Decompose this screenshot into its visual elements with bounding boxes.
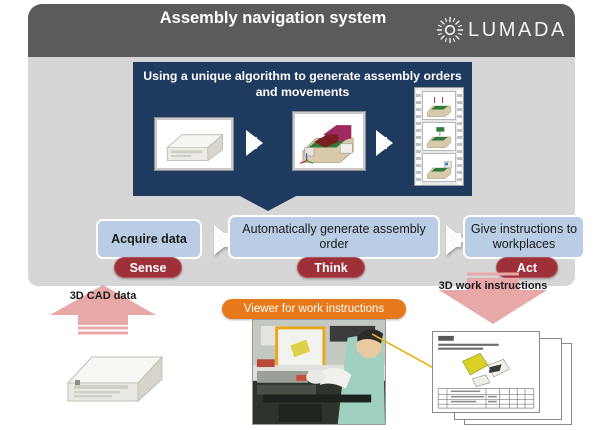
worker-photo [252, 319, 386, 425]
filmstrip-frame [422, 122, 456, 151]
assembly-sequence-filmstrip [414, 87, 464, 186]
input-flow-label: 3D CAD data [48, 290, 158, 303]
flow-arrow-2-icon [376, 130, 393, 156]
work-instruction-documents [430, 331, 580, 427]
algorithm-panel: Using a unique algorithm to generate ass… [133, 62, 472, 196]
algorithm-panel-pointer [238, 195, 298, 211]
process-box-acquire-label: Acquire data [111, 232, 187, 247]
status-badge-sense: Sense [114, 257, 182, 278]
viewer-badge[interactable]: Viewer for work instructions [222, 299, 406, 319]
flow-arrow-1-icon [246, 130, 263, 156]
main-diagram-panel: Assembly navigation system [28, 4, 575, 286]
lumada-brand: LUMADA [436, 16, 567, 44]
status-badge-think: Think [297, 257, 365, 278]
process-box-instruct[interactable]: Give instructions to workplaces [463, 215, 585, 259]
process-box-generate[interactable]: Automatically generate assembly order [228, 215, 440, 259]
output-flow-label: 3D work instructions [438, 280, 548, 293]
process-box-instruct-label: Give instructions to workplaces [465, 222, 583, 252]
panel-header: Assembly navigation system [28, 4, 575, 57]
page-title: Assembly navigation system [138, 8, 408, 29]
exploded-assembly-thumbnail [293, 112, 365, 170]
slide-canvas: Assembly navigation system [0, 0, 600, 430]
filmstrip-frame [422, 153, 456, 182]
filmstrip-frame [422, 91, 456, 120]
document-page-front [432, 331, 540, 413]
process-box-acquire[interactable]: Acquire data [96, 219, 202, 259]
product-device-image [58, 343, 174, 405]
sun-icon [436, 16, 464, 44]
process-box-generate-label: Automatically generate assembly order [230, 222, 438, 252]
product-device-thumbnail [155, 118, 233, 170]
lumada-wordmark: LUMADA [468, 19, 567, 42]
